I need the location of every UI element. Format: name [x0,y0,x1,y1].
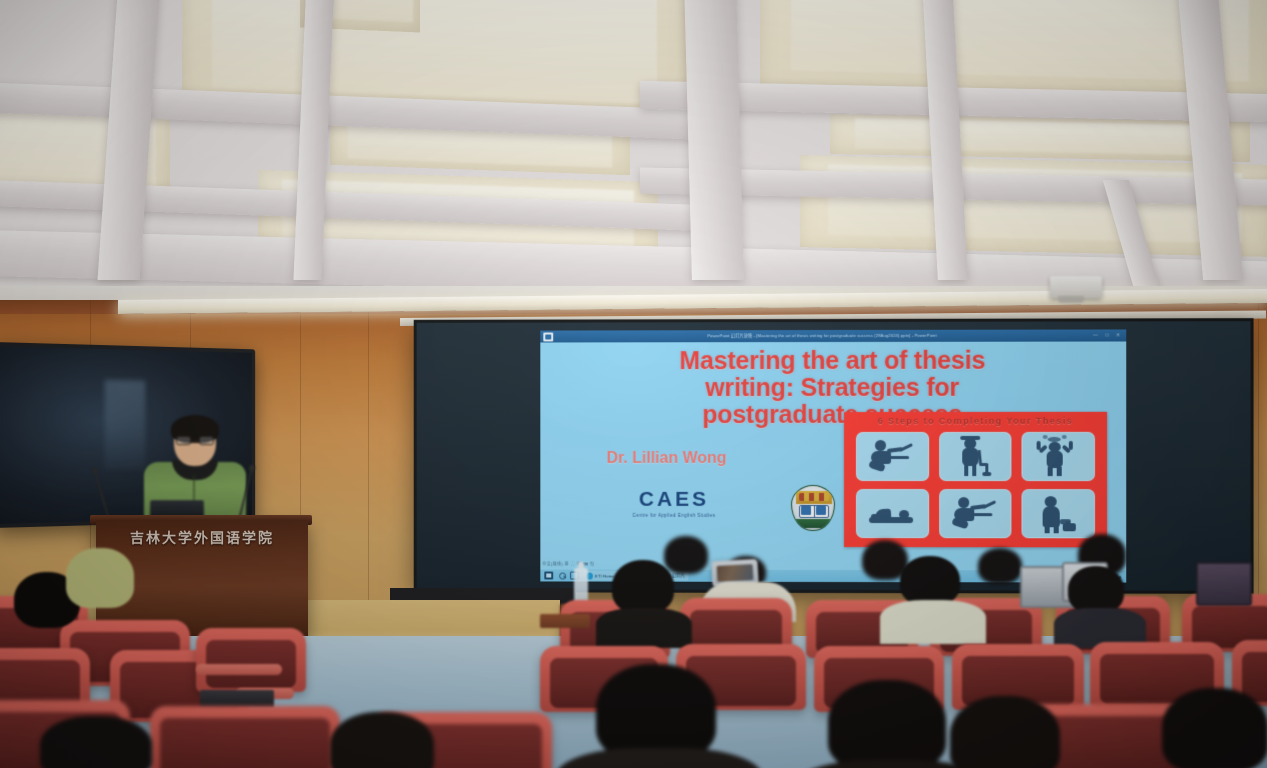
auditorium-seat [196,628,306,692]
podium-sign: 吉林大学外国语学院 [96,528,308,548]
slide-author: Dr. Lillian Wong [552,450,781,468]
ceiling [0,0,1267,300]
person-typing-laptop-icon [952,493,998,533]
powerpoint-icon [543,332,553,341]
hku-crest-motto [794,519,834,528]
window-controls[interactable]: — □ ✕ [1093,332,1123,338]
step-cell-2 [939,432,1012,481]
seat-armrest [196,664,282,675]
search-icon[interactable] [557,572,566,580]
ceiling-projector [1050,276,1102,298]
person-typing-laptop-icon [869,435,915,475]
lecture-hall-photo: PowerPoint 幻灯片放映 - [Mastering the art of… [0,0,1267,768]
six-steps-grid [856,432,1095,538]
seat-desk [540,614,590,628]
audience-tablet [1196,562,1252,606]
powerpoint-title-bar: PowerPoint 幻灯片放映 - [Mastering the art of… [540,329,1126,342]
person-vomiting-icon [1022,489,1095,538]
powerpoint-window-title: PowerPoint 幻灯片放映 - [Mastering the art of… [553,333,1093,340]
slide-title-line-2: writing: Strategies for [548,375,1118,403]
auditorium-seat [150,706,340,768]
caes-acronym: CAES [562,488,786,512]
six-steps-heading: 6 Steps to Completing Your Thesis [844,416,1107,426]
caes-logo: CAES Centre for Applied English Studies [562,488,786,518]
speaker-glasses [176,436,214,445]
powerpoint-slide: PowerPoint 幻灯片放映 - [Mastering the art of… [540,329,1126,582]
hku-crest-icon [791,485,835,531]
step-cell-5 [939,489,1012,538]
step-cell-1 [856,432,929,481]
person-head-exploding-icon [1022,432,1095,481]
slide-title-line-1: Mastering the art of thesis [548,348,1118,376]
start-button[interactable] [544,572,553,580]
caes-full-name: Centre for Applied English Studies [562,513,786,518]
person-lying-down-icon [856,489,929,538]
six-steps-graphic: 6 Steps to Completing Your Thesis [844,412,1107,548]
person-with-cane-icon [952,435,998,475]
